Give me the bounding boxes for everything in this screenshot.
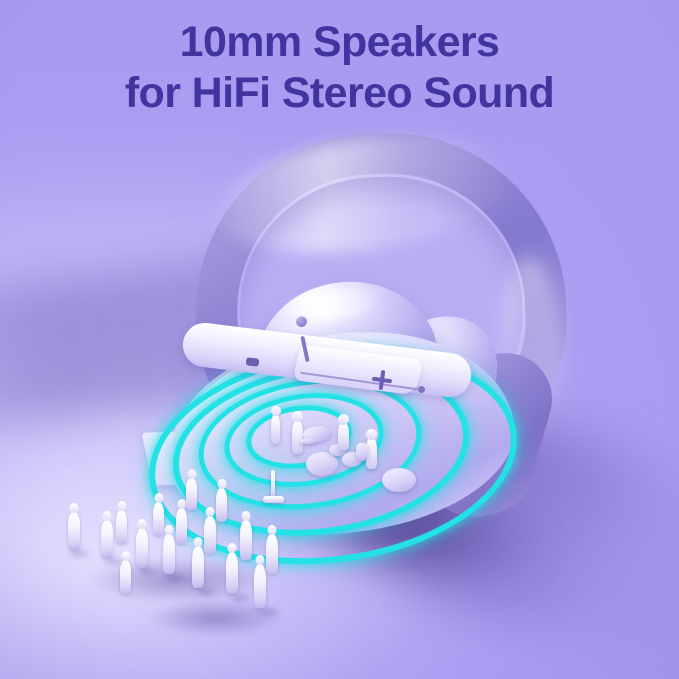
product-marketing-image: 10mm Speakers for HiFi Stereo Sound bbox=[0, 0, 679, 679]
headline-line-2: for HiFi Stereo Sound bbox=[0, 68, 679, 119]
page-title: 10mm Speakers for HiFi Stereo Sound bbox=[0, 17, 679, 118]
charging-port-icon bbox=[246, 357, 260, 366]
volume-plus-icon[interactable] bbox=[371, 369, 394, 392]
control-dot-icon bbox=[418, 386, 425, 393]
headline-line-1: 10mm Speakers bbox=[180, 18, 500, 66]
